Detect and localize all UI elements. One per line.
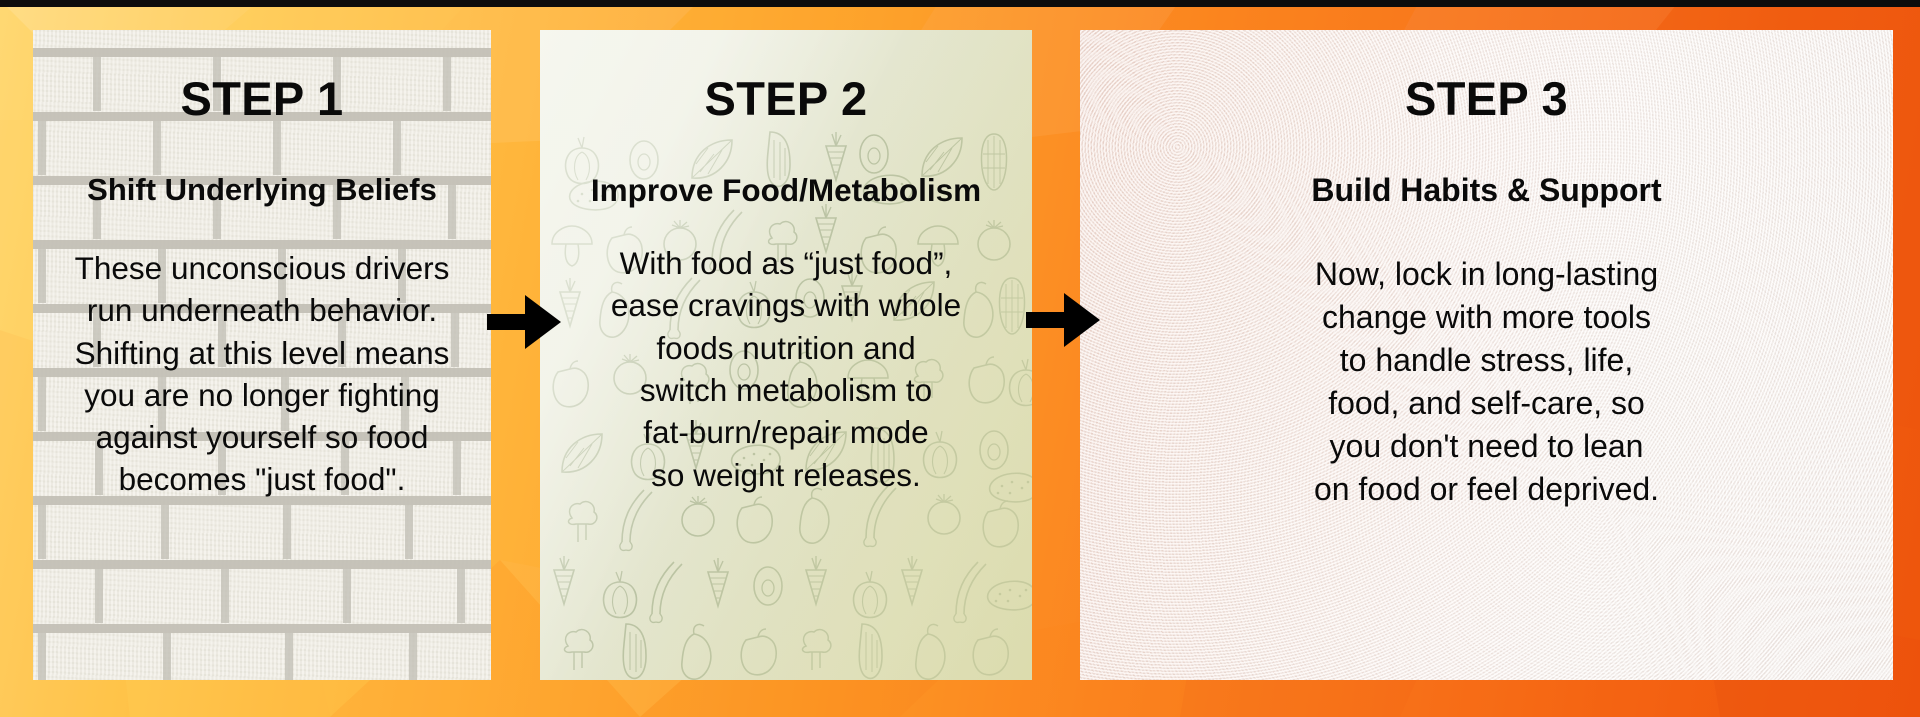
body-line: so weight releases. <box>550 454 1022 496</box>
step-subtitle-2: Improve Food/Metabolism <box>550 173 1022 208</box>
body-line: These unconscious drivers <box>43 247 481 289</box>
step-body-2: With food as “just food”, ease cravings … <box>550 242 1022 496</box>
step-title-3: STEP 3 <box>1090 74 1883 123</box>
body-line: you are no longer fighting <box>43 374 481 416</box>
step-card-3[interactable]: STEP 3 Build Habits & Support Now, lock … <box>1080 30 1893 680</box>
body-line: food, and self-care, so <box>1090 382 1883 425</box>
body-line: Shifting at this level means <box>43 332 481 374</box>
step-title-1: STEP 1 <box>43 74 481 123</box>
body-line: you don't need to lean <box>1090 425 1883 468</box>
body-line: ease cravings with whole <box>550 284 1022 326</box>
body-line: switch metabolism to <box>550 369 1022 411</box>
body-line: fat-burn/repair mode <box>550 411 1022 453</box>
steps-row: STEP 1 Shift Underlying Beliefs These un… <box>0 0 1920 717</box>
body-line: change with more tools <box>1090 296 1883 339</box>
body-line: foods nutrition and <box>550 327 1022 369</box>
arrow-right-icon <box>1026 291 1100 349</box>
top-black-bar <box>0 0 1920 7</box>
arrow-right-icon <box>487 293 561 351</box>
step-subtitle-1: Shift Underlying Beliefs <box>43 173 481 207</box>
step-card-1[interactable]: STEP 1 Shift Underlying Beliefs These un… <box>33 30 491 680</box>
body-line: run underneath behavior. <box>43 289 481 331</box>
body-line: to handle stress, life, <box>1090 339 1883 382</box>
body-line: With food as “just food”, <box>550 242 1022 284</box>
body-line: becomes "just food". <box>43 458 481 500</box>
body-line: Now, lock in long-lasting <box>1090 253 1883 296</box>
step-title-2: STEP 2 <box>550 74 1022 123</box>
step-card-2[interactable]: STEP 2 Improve Food/Metabolism With food… <box>540 30 1032 680</box>
step-body-1: These unconscious drivers run underneath… <box>43 247 481 499</box>
body-line: on food or feel deprived. <box>1090 468 1883 511</box>
body-line: against yourself so food <box>43 416 481 458</box>
step-subtitle-3: Build Habits & Support <box>1090 173 1883 208</box>
step-body-3: Now, lock in long-lasting change with mo… <box>1090 253 1883 511</box>
